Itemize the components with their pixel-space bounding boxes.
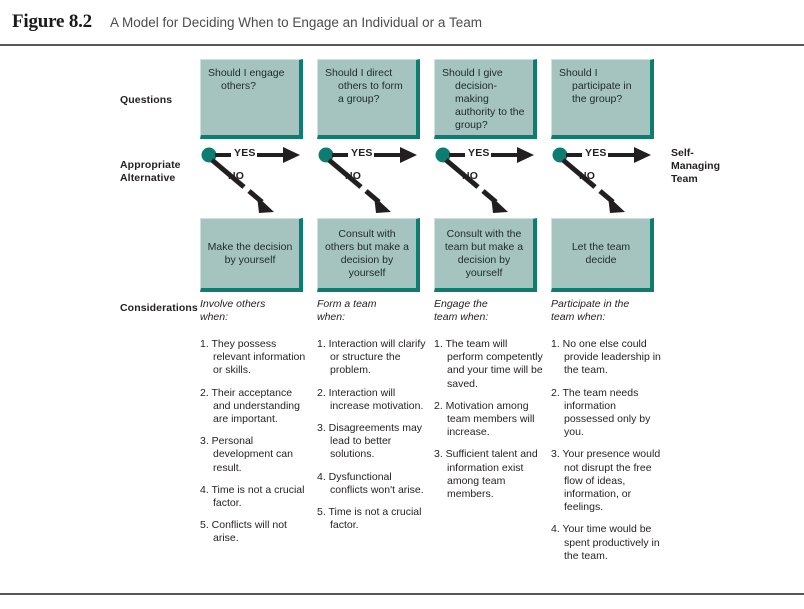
- considerations-heading-3-line2: team when:: [434, 311, 488, 323]
- question-box-4: Should I participate in the group?: [551, 59, 654, 139]
- answer-text-3: Consult with the team but make a decisio…: [440, 228, 528, 280]
- no-arrowhead-icon: [374, 196, 391, 213]
- no-label-2: NO: [345, 170, 361, 182]
- question-text-3: Should I give decision-making authority …: [442, 67, 528, 132]
- considerations-heading-2: Form a team when:: [317, 298, 425, 324]
- yes-arrowhead-icon: [634, 147, 651, 163]
- yes-arrowhead-icon: [517, 147, 534, 163]
- question-box-2: Should I direct others to form a group?: [317, 59, 420, 139]
- considerations-heading-3: Engage the team when:: [434, 298, 542, 324]
- list-item: 1. They possess relevant information or …: [200, 338, 310, 378]
- branch-arrows-1: YES NO: [200, 146, 318, 214]
- considerations-heading-1: Involve others when:: [200, 298, 308, 324]
- figure-header: Figure 8.2 A Model for Deciding When to …: [0, 0, 804, 46]
- considerations-heading-1-line1: Involve others: [200, 298, 265, 310]
- answer-text-1: Make the decision by yourself: [206, 241, 294, 267]
- list-item: 1. Interaction will clarify or structure…: [317, 338, 427, 378]
- branch-arrow-svg-4: [551, 146, 669, 214]
- question-text-1: Should I engage others?: [208, 67, 294, 93]
- figure-diagram: Questions Appropriate Alternative Consid…: [0, 46, 804, 595]
- answer-box-2: Consult with others but make a decision …: [317, 218, 420, 292]
- figure-title: A Model for Deciding When to Engage an I…: [110, 15, 482, 30]
- row-label-considerations: Considerations: [120, 302, 198, 315]
- list-item: 5. Time is not a crucial factor.: [317, 506, 427, 532]
- branch-arrow-svg-2: [317, 146, 435, 214]
- figure-number: Figure 8.2: [12, 11, 92, 33]
- branch-arrows-3: YES NO: [434, 146, 552, 214]
- list-item: 2. The team needs information possessed …: [551, 387, 661, 440]
- list-item: 1. The team will perform competently and…: [434, 338, 544, 391]
- outcome-line1: Self-: [671, 147, 694, 159]
- considerations-list-4: 1. No one else could provide leadership …: [551, 338, 661, 572]
- yes-arrowhead-icon: [283, 147, 300, 163]
- considerations-heading-1-line2: when:: [200, 311, 228, 323]
- list-item: 2. Their acceptance and understanding ar…: [200, 387, 310, 427]
- answer-text-4: Let the team decide: [557, 241, 645, 267]
- no-label-4: NO: [579, 170, 595, 182]
- list-item: 1. No one else could provide leadership …: [551, 338, 661, 378]
- question-box-3: Should I give decision-making authority …: [434, 59, 537, 139]
- row-label-appropriate-alternative-line1: Appropriate: [120, 159, 181, 171]
- yes-label-3: YES: [468, 147, 490, 159]
- row-label-appropriate-alternative: Appropriate Alternative: [120, 159, 202, 184]
- question-box-1: Should I engage others?: [200, 59, 303, 139]
- answer-box-1: Make the decision by yourself: [200, 218, 303, 292]
- question-text-4: Should I participate in the group?: [559, 67, 645, 106]
- outcome-self-managing-team: Self- Managing Team: [671, 147, 731, 186]
- question-text-2: Should I direct others to form a group?: [325, 67, 411, 106]
- list-item: 4. Time is not a crucial factor.: [200, 484, 310, 510]
- branch-arrow-svg-1: [200, 146, 318, 214]
- branch-arrows-4: YES NO: [551, 146, 669, 214]
- yes-label-1: YES: [234, 147, 256, 159]
- considerations-heading-2-line2: when:: [317, 311, 345, 323]
- no-label-1: NO: [228, 170, 244, 182]
- list-item: 3. Personal development can result.: [200, 435, 310, 475]
- no-arrowhead-icon: [491, 196, 508, 213]
- list-item: 2. Interaction will increase motivation.: [317, 387, 427, 413]
- outcome-line2: Managing: [671, 160, 720, 172]
- list-item: 2. Motivation among team members will in…: [434, 400, 544, 440]
- list-item: 3. Sufficient talent and information exi…: [434, 448, 544, 501]
- row-label-appropriate-alternative-line2: Alternative: [120, 172, 175, 184]
- considerations-heading-4-line2: team when:: [551, 311, 605, 323]
- yes-label-2: YES: [351, 147, 373, 159]
- no-arrowhead-icon: [608, 196, 625, 213]
- considerations-list-3: 1. The team will perform competently and…: [434, 338, 544, 510]
- branch-arrow-svg-3: [434, 146, 552, 214]
- list-item: 4. Your time would be spent productively…: [551, 523, 661, 563]
- considerations-heading-3-line1: Engage the: [434, 298, 488, 310]
- answer-box-3: Consult with the team but make a decisio…: [434, 218, 537, 292]
- considerations-heading-4-line1: Participate in the: [551, 298, 629, 310]
- answer-text-2: Consult with others but make a decision …: [323, 228, 411, 280]
- yes-label-4: YES: [585, 147, 607, 159]
- row-label-questions: Questions: [120, 94, 172, 107]
- list-item: 4. Dysfunctional conflicts won't arise.: [317, 471, 427, 497]
- considerations-heading-2-line1: Form a team: [317, 298, 377, 310]
- list-item: 5. Conflicts will not arise.: [200, 519, 310, 545]
- answer-box-4: Let the team decide: [551, 218, 654, 292]
- outcome-line3: Team: [671, 173, 698, 185]
- no-label-3: NO: [462, 170, 478, 182]
- considerations-list-1: 1. They possess relevant information or …: [200, 338, 310, 555]
- list-item: 3. Your presence would not disrupt the f…: [551, 448, 661, 514]
- list-item: 3. Disagreements may lead to better solu…: [317, 422, 427, 462]
- considerations-heading-4: Participate in the team when:: [551, 298, 659, 324]
- no-arrowhead-icon: [257, 196, 274, 213]
- considerations-list-2: 1. Interaction will clarify or structure…: [317, 338, 427, 541]
- yes-arrowhead-icon: [400, 147, 417, 163]
- branch-arrows-2: YES NO: [317, 146, 435, 214]
